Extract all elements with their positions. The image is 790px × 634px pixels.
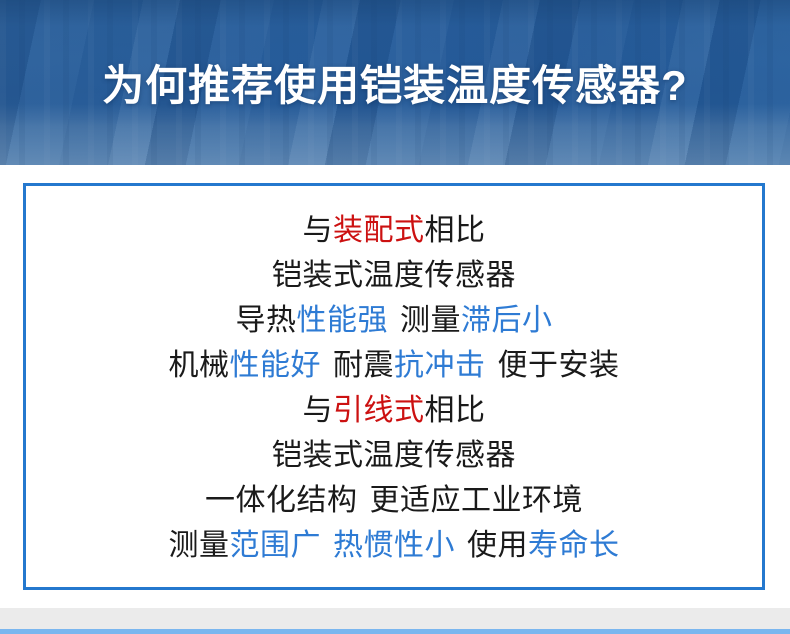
feature-text-black: 相比 xyxy=(425,394,486,427)
feature-text-black: 铠装式温度传感器 xyxy=(272,259,516,292)
feature-text-blue: 滞后小 xyxy=(461,304,553,337)
feature-line: 机械性能好耐震抗冲击便于安装 xyxy=(169,343,620,388)
feature-text-black: 机械 xyxy=(169,349,230,382)
feature-text-blue: 热惯性小 xyxy=(333,529,455,562)
feature-text-black: 更适应工业环境 xyxy=(370,484,584,517)
feature-line: 与装配式相比 xyxy=(303,208,486,253)
header-banner: 为何推荐使用铠装温度传感器? xyxy=(0,0,790,165)
feature-text-red: 装配式 xyxy=(333,214,425,247)
feature-text-black: 一体化结构 xyxy=(205,484,358,517)
feature-line-list: 与装配式相比铠装式温度传感器导热性能强测量滞后小机械性能好耐震抗冲击便于安装与引… xyxy=(26,186,762,587)
feature-text-black: 测量 xyxy=(169,529,230,562)
feature-text-blue: 范围广 xyxy=(230,529,322,562)
feature-text-black: 导热 xyxy=(236,304,297,337)
feature-line: 测量范围广热惯性小使用寿命长 xyxy=(169,523,620,568)
feature-line: 一体化结构更适应工业环境 xyxy=(205,478,583,523)
feature-card: 与装配式相比铠装式温度传感器导热性能强测量滞后小机械性能好耐震抗冲击便于安装与引… xyxy=(23,183,765,590)
feature-line: 铠装式温度传感器 xyxy=(272,433,516,478)
footer-gray-bar xyxy=(0,608,790,629)
feature-line: 铠装式温度传感器 xyxy=(272,253,516,298)
feature-text-red: 引线式 xyxy=(333,394,425,427)
feature-text-black: 便于安装 xyxy=(498,349,620,382)
feature-text-blue: 抗冲击 xyxy=(394,349,486,382)
feature-text-black: 与 xyxy=(303,394,334,427)
feature-text-blue: 性能强 xyxy=(297,304,389,337)
feature-text-black: 使用 xyxy=(467,529,528,562)
feature-text-black: 铠装式温度传感器 xyxy=(272,439,516,472)
feature-text-black: 与 xyxy=(303,214,334,247)
page-title: 为何推荐使用铠装温度传感器? xyxy=(0,0,790,165)
feature-text-black: 测量 xyxy=(400,304,461,337)
product-detail-page: 为何推荐使用铠装温度传感器? 与装配式相比铠装式温度传感器导热性能强测量滞后小机… xyxy=(0,0,790,634)
feature-text-blue: 性能好 xyxy=(230,349,322,382)
feature-text-black: 相比 xyxy=(425,214,486,247)
feature-line: 与引线式相比 xyxy=(303,388,486,433)
feature-line: 导热性能强测量滞后小 xyxy=(236,298,553,343)
feature-text-blue: 寿命长 xyxy=(528,529,620,562)
feature-text-black: 耐震 xyxy=(333,349,394,382)
footer-blue-bar xyxy=(0,629,790,634)
